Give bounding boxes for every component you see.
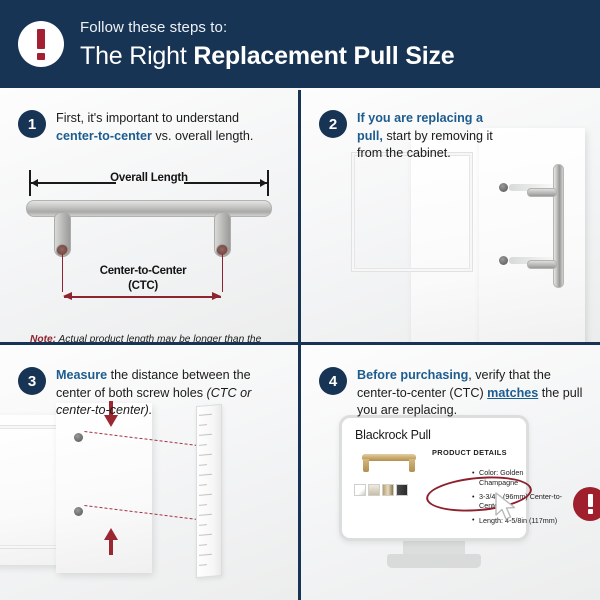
step-4-number: 4: [319, 367, 347, 395]
step-2-header: 2 If you are replacing a pull, start by …: [319, 110, 507, 163]
step-1-text: First, it's important to understand cent…: [56, 110, 271, 145]
bar-pull-post-top-2: [527, 188, 557, 197]
step-panel-1: 1 First, it's important to understand ce…: [0, 88, 298, 342]
step-4-accent: Before purchasing: [357, 368, 468, 382]
monitor-screen: Blackrock Pull PRODUCT DETAILS Color: Go…: [339, 415, 529, 541]
step-1-accent: center-to-center: [56, 129, 152, 143]
step-2-text: If you are replacing a pull, start by re…: [357, 110, 507, 163]
product-image-leg-left: [363, 459, 369, 472]
overall-arrow-left: [31, 179, 38, 187]
thumbnail-3[interactable]: [382, 484, 394, 496]
product-image-grip: [362, 454, 416, 461]
step-1-lead: First, it's important to understand: [56, 111, 239, 125]
ctc-label-line2: (CTC): [128, 280, 158, 292]
step-panel-2: 2 If you are replacing a pull, start by …: [301, 88, 600, 342]
product-detail-item: Length: 4-5/8in (117mm): [472, 516, 564, 525]
step-4-header: 4 Before purchasing, verify that the cen…: [319, 367, 587, 420]
screw-hole-top-3: [74, 433, 83, 442]
diagram-note-prefix: Note:: [30, 334, 56, 342]
cabinet-door-2-frame: [351, 152, 473, 272]
ctc-line: [64, 296, 221, 298]
step-3-accent: Measure: [56, 368, 107, 382]
page-title: The Right Replacement Pull Size: [80, 44, 455, 69]
step-3-number: 3: [18, 367, 46, 395]
product-image-leg-right: [409, 459, 415, 472]
bar-pull-2: [553, 164, 564, 288]
ruler: [196, 404, 222, 578]
thumbnail-1[interactable]: [354, 484, 366, 496]
header-kicker: Follow these steps to:: [80, 20, 455, 35]
step-1-tail: vs. overall length.: [152, 129, 254, 143]
exclamation-glyph: [588, 494, 593, 514]
step-2-number: 2: [319, 110, 347, 138]
grid-divider-vertical: [298, 90, 301, 600]
ctc-arrow-right: [212, 292, 221, 300]
product-thumbnail-strip[interactable]: [354, 484, 408, 496]
thumbnail-4[interactable]: [396, 484, 408, 496]
page-title-bold: Replacement Pull Size: [193, 42, 454, 70]
grid-divider-horizontal: [0, 342, 600, 345]
step-panel-4: 4 Before purchasing, verify that the cen…: [301, 345, 600, 600]
exclamation-glyph: [37, 29, 45, 59]
screw-hole-bottom-2: [499, 256, 508, 265]
page-title-light: The Right: [80, 42, 193, 70]
thumbnail-2[interactable]: [368, 484, 380, 496]
ctc-arrow-left: [63, 292, 72, 300]
step-panel-3: 3 Measure the distance between the cente…: [0, 345, 298, 600]
overall-length-line-left: [30, 182, 116, 184]
header-text-block: Follow these steps to: The Right Replace…: [80, 20, 455, 69]
cabinet-door-face-3: [56, 403, 152, 573]
pull-measurement-diagram: Overall Length Center-to-Center(CTC): [18, 172, 280, 322]
step-1-number: 1: [18, 110, 46, 138]
screw-hole-top-2: [499, 183, 508, 192]
step-1-header: 1 First, it's important to understand ce…: [18, 110, 271, 145]
product-page-monitor: Blackrock Pull PRODUCT DETAILS Color: Go…: [339, 415, 529, 565]
screw-hole-bottom-3: [74, 507, 83, 516]
header-banner: Follow these steps to: The Right Replace…: [0, 0, 600, 88]
exclamation-circle-icon: [573, 487, 600, 521]
overall-arrow-right: [260, 179, 267, 187]
step-3-header: 3 Measure the distance between the cente…: [18, 367, 271, 420]
ctc-label-line1: Center-to-Center: [100, 265, 187, 277]
step-4-link[interactable]: matches: [487, 386, 538, 400]
overall-tick-right: [267, 170, 269, 196]
diagram-note-text: Actual product length may be longer than…: [30, 334, 261, 342]
exclamation-circle-icon: [18, 21, 64, 67]
step-4-text: Before purchasing, verify that the cente…: [357, 367, 587, 420]
product-title: Blackrock Pull: [355, 428, 431, 442]
mouse-cursor-icon: [494, 492, 518, 522]
measure-arrow-bottom: [104, 528, 118, 540]
overall-length-line-right: [184, 182, 268, 184]
product-details-heading: PRODUCT DETAILS: [432, 448, 507, 457]
product-image: [356, 452, 422, 478]
step-3-text: Measure the distance between the center …: [56, 367, 271, 420]
measure-arrow-bottom-stem: [109, 539, 113, 555]
diagram-note: Note: Actual product length may be longe…: [30, 333, 270, 342]
infographic-root: Follow these steps to: The Right Replace…: [0, 0, 600, 600]
ctc-label: Center-to-Center(CTC): [48, 264, 238, 294]
bar-pull-post-bottom-2: [527, 260, 557, 269]
monitor-stand-base: [387, 554, 481, 568]
